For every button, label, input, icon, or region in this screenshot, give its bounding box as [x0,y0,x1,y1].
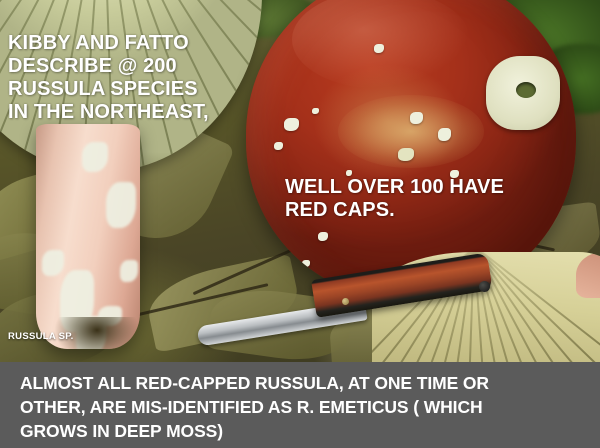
mushroom-photograph: KIBBY AND FATTO DESCRIBE @ 200 RUSSULA S… [0,0,600,362]
cap-cuticle-patch [486,56,560,130]
caption-bar: ALMOST ALL RED-CAPPED RUSSULA, AT ONE TI… [0,362,600,448]
species-label: RUSSULA SP. [8,331,74,342]
mushroom-stem [36,124,140,349]
pocket-knife [196,268,506,338]
slide-image: KIBBY AND FATTO DESCRIBE @ 200 RUSSULA S… [0,0,600,448]
caption-bar-text: ALMOST ALL RED-CAPPED RUSSULA, AT ONE TI… [20,371,584,443]
overlay-caption-top-left: KIBBY AND FATTO DESCRIBE @ 200 RUSSULA S… [8,32,209,124]
overlay-caption-middle: WELL OVER 100 HAVE RED CAPS. [285,176,504,222]
knife-pivot-pin [478,280,491,293]
